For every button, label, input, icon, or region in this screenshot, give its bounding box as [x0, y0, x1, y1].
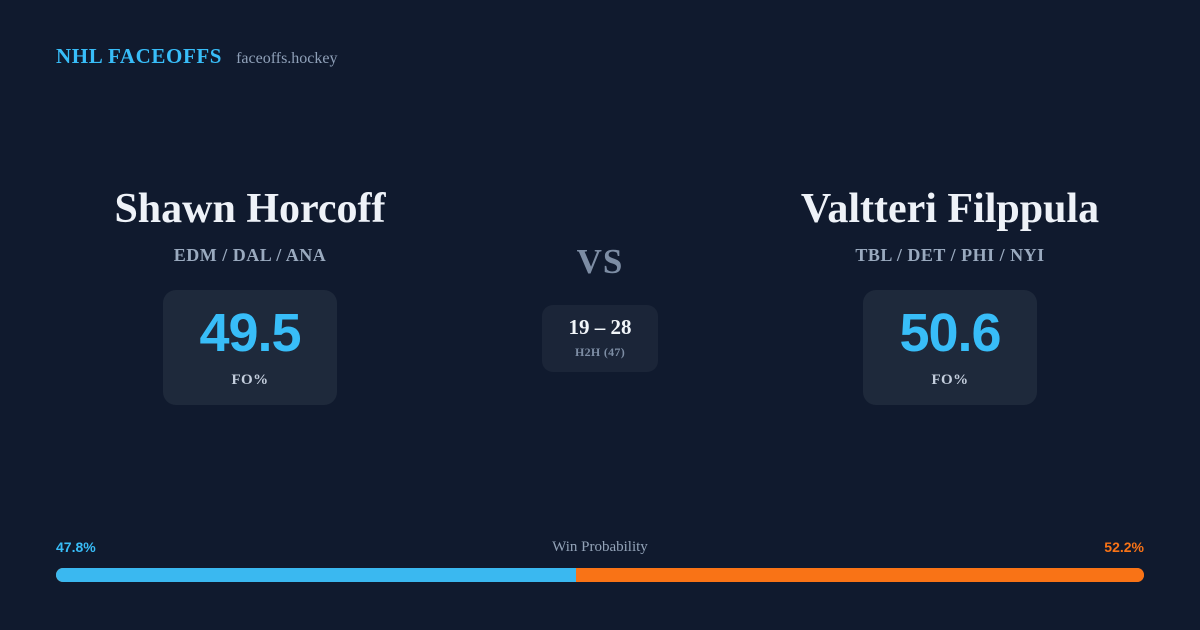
- stat-label-right: FO%: [931, 372, 968, 389]
- brand-header: NHL FACEOFFS faceoffs.hockey: [56, 46, 338, 67]
- player-name-right: Valtteri Filppula: [801, 186, 1099, 233]
- win-probability-bar-left: [56, 568, 576, 582]
- stat-card-left: 49.5 FO%: [163, 290, 337, 405]
- win-probability-title: Win Probability: [56, 540, 1144, 555]
- head-to-head-label: H2H (47): [575, 345, 625, 360]
- player-teams-right: TBL / DET / PHI / NYI: [855, 245, 1044, 266]
- stat-value-left: 49.5: [199, 306, 300, 360]
- brand-title: NHL FACEOFFS: [56, 46, 222, 67]
- win-probability-bar: [56, 568, 1144, 582]
- versus-label: VS: [577, 244, 624, 279]
- head-to-head-card: 19 – 28 H2H (47): [542, 305, 658, 372]
- matchup-section: Shawn Horcoff EDM / DAL / ANA 49.5 FO% V…: [0, 186, 1200, 405]
- brand-domain: faceoffs.hockey: [236, 51, 337, 67]
- stat-label-left: FO%: [231, 372, 268, 389]
- player-card-left[interactable]: Shawn Horcoff EDM / DAL / ANA 49.5 FO%: [0, 186, 500, 405]
- stat-value-right: 50.6: [899, 306, 1000, 360]
- versus-column: VS 19 – 28 H2H (47): [500, 186, 700, 372]
- player-card-right[interactable]: Valtteri Filppula TBL / DET / PHI / NYI …: [700, 186, 1200, 405]
- player-name-left: Shawn Horcoff: [114, 186, 385, 233]
- win-probability-bar-right: [576, 568, 1144, 582]
- player-teams-left: EDM / DAL / ANA: [174, 245, 327, 266]
- win-probability-labels: 47.8% Win Probability 52.2%: [56, 540, 1144, 558]
- head-to-head-record: 19 – 28: [569, 317, 632, 338]
- stat-card-right: 50.6 FO%: [863, 290, 1037, 405]
- win-probability-section: 47.8% Win Probability 52.2%: [56, 540, 1144, 582]
